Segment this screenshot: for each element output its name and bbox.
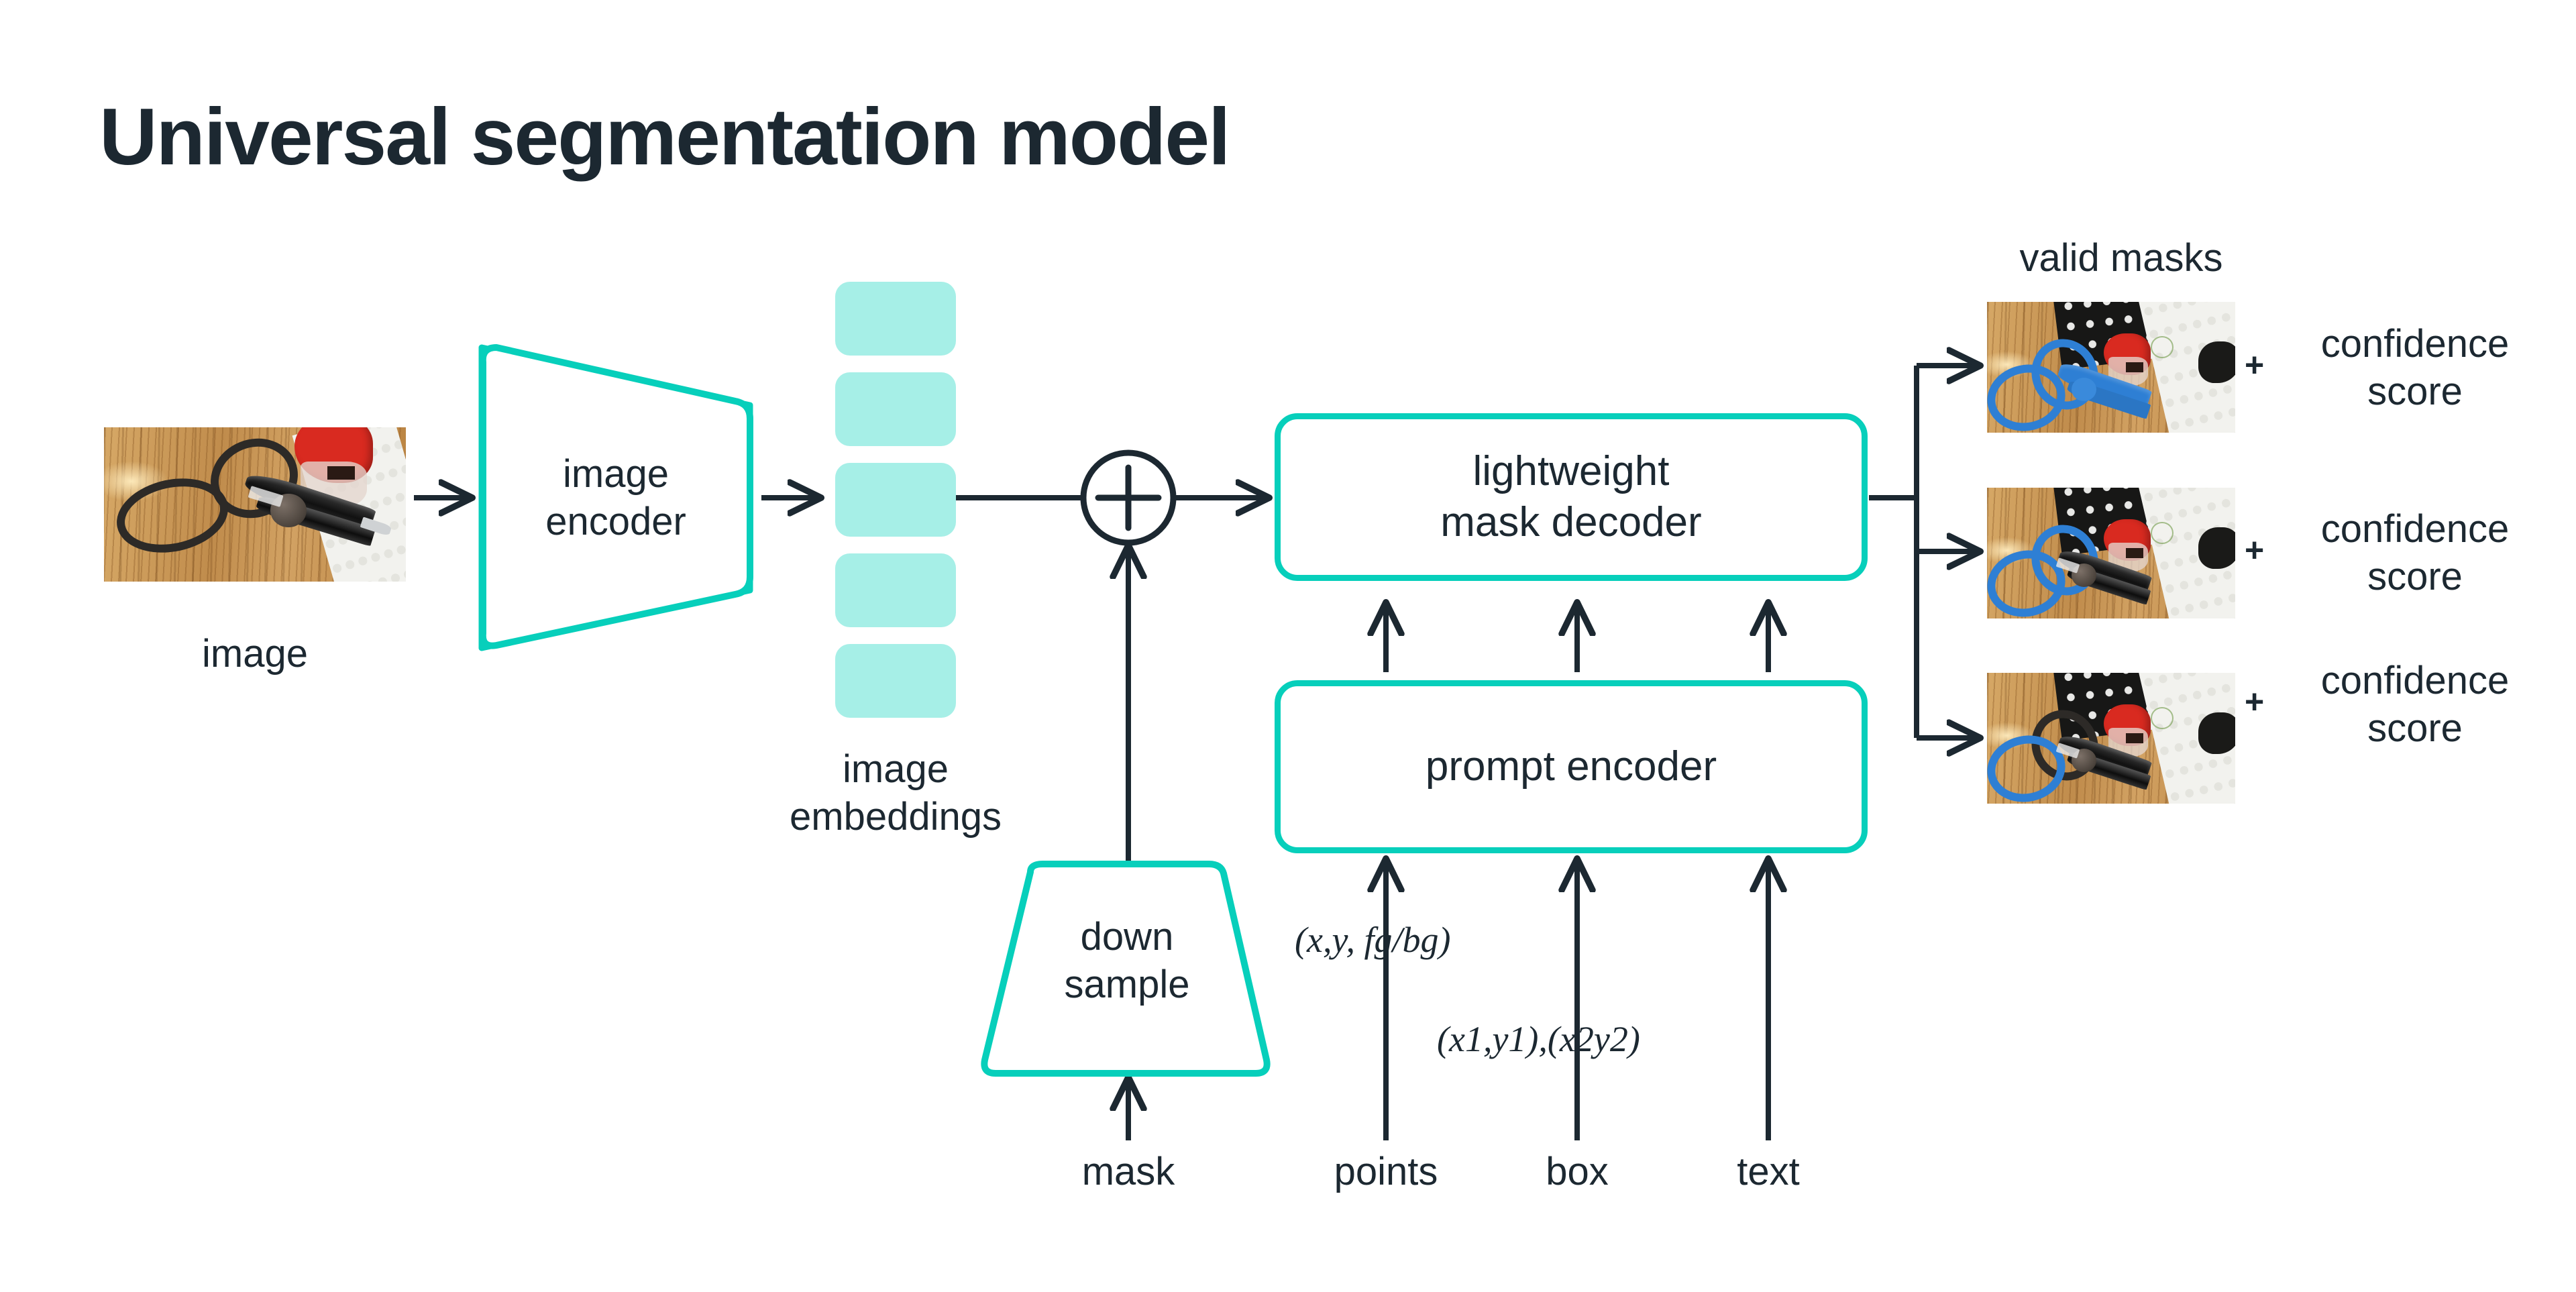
downsample-label-line2: sample <box>1065 961 1190 1009</box>
valid-masks-header: valid masks <box>2020 235 2223 282</box>
sum-circle-icon <box>1083 453 1173 543</box>
lightweight-mask-decoder-box[interactable]: lightweight mask decoder <box>1275 413 1868 581</box>
decoder-label-line2: mask decoder <box>1440 497 1701 548</box>
points-annotation: (x,y, fg/bg) <box>1295 919 1450 961</box>
page-title: Universal segmentation model <box>99 91 1229 183</box>
confidence-score-label-2: confidence score <box>2281 506 2549 601</box>
confidence-score-label-3: confidence score <box>2281 657 2549 753</box>
decoder-label-group: lightweight mask decoder <box>1440 446 1701 547</box>
image-encoder-label-group: image encoder <box>545 451 686 546</box>
box-annotation: (x1,y1),(x2y2) <box>1437 1018 1640 1060</box>
embedding-block <box>835 553 956 627</box>
image-encoder-label-line1: image <box>545 451 686 498</box>
output-mask-thumbnail-3[interactable] <box>1987 673 2235 804</box>
embedding-block <box>835 372 956 446</box>
confidence-score-line1: confidence <box>2281 506 2549 553</box>
embedding-block <box>835 463 956 537</box>
prompt-input-label-points: points <box>1334 1148 1438 1196</box>
input-image-thumbnail <box>104 427 406 582</box>
prompt-input-label-mask: mask <box>1082 1148 1175 1196</box>
confidence-score-label-1: confidence score <box>2281 321 2549 416</box>
embedding-block <box>835 644 956 718</box>
downsample-label-group: down sample <box>1065 914 1190 1009</box>
confidence-plus-1: + <box>2245 345 2264 386</box>
prompt-encoder-label: prompt encoder <box>1426 741 1717 792</box>
confidence-score-line1: confidence <box>2281 321 2549 368</box>
downsample-label-line1: down <box>1065 914 1190 961</box>
output-mask-thumbnail-2[interactable] <box>1987 488 2235 618</box>
confidence-score-line2: score <box>2281 705 2549 753</box>
confidence-plus-3: + <box>2245 682 2264 722</box>
prompt-encoder-box[interactable]: prompt encoder <box>1275 680 1868 853</box>
prompt-input-label-text: text <box>1737 1148 1800 1196</box>
confidence-score-line2: score <box>2281 368 2549 416</box>
image-encoder-label-line2: encoder <box>545 498 686 546</box>
input-image-label: image <box>202 631 308 678</box>
diagram-canvas: Universal segmentation model <box>0 0 2576 1292</box>
embedding-block <box>835 282 956 356</box>
confidence-score-line2: score <box>2281 553 2549 601</box>
mask-highlight-region <box>2072 378 2096 401</box>
prompt-input-label-box: box <box>1546 1148 1609 1196</box>
image-embeddings-label-line1: image <box>790 746 1002 794</box>
confidence-score-line1: confidence <box>2281 657 2549 705</box>
image-embeddings-label-group: image embeddings <box>790 746 1002 841</box>
confidence-plus-2: + <box>2245 530 2264 571</box>
image-embeddings-stack <box>835 282 956 718</box>
output-mask-thumbnail-1[interactable] <box>1987 302 2235 433</box>
decoder-label-line1: lightweight <box>1440 446 1701 497</box>
image-embeddings-label-line2: embeddings <box>790 794 1002 841</box>
connector-layer <box>0 0 2576 1292</box>
